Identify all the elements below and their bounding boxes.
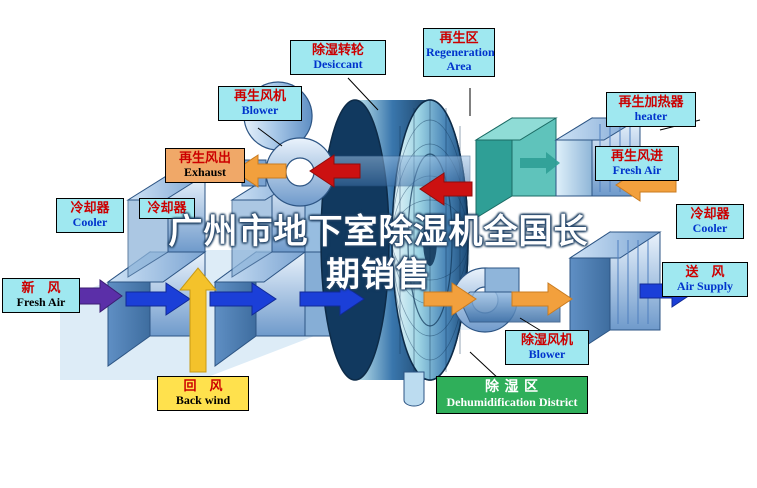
label-regen-heater-en: heater — [609, 110, 693, 124]
label-back-wind: 回 风 Back wind — [157, 376, 249, 411]
label-regeneration-area-cn: 再生区 — [426, 31, 492, 46]
label-regen-exhaust: 再生风出 Exhaust — [165, 148, 245, 183]
label-regen-exhaust-en: Exhaust — [168, 166, 242, 180]
label-regen-fresh-air-en: Fresh Air — [598, 164, 676, 178]
label-regen-fresh-air: 再生风进 Fresh Air — [595, 146, 679, 181]
label-regen-blower: 再生风机 Blower — [218, 86, 302, 121]
label-back-wind-en: Back wind — [160, 394, 246, 408]
label-desiccant-wheel: 除湿转轮 Desiccant — [290, 40, 386, 75]
label-dehum-district: 除 湿 区 Dehumidification District — [436, 376, 588, 414]
diagram-canvas: 除湿转轮 Desiccant 再生区 Regeneration Area 再生风… — [0, 0, 757, 488]
label-dehum-district-en: Dehumidification District — [439, 396, 585, 410]
label-regeneration-area: 再生区 Regeneration Area — [423, 28, 495, 77]
label-regen-heater: 再生加热器 heater — [606, 92, 696, 127]
label-regen-exhaust-cn: 再生风出 — [168, 151, 242, 166]
label-back-wind-cn: 回 风 — [160, 379, 246, 394]
label-desiccant-wheel-cn: 除湿转轮 — [293, 43, 383, 58]
label-dehum-blower-en: Blower — [508, 348, 586, 362]
label-regen-heater-cn: 再生加热器 — [609, 95, 693, 110]
label-desiccant-wheel-en: Desiccant — [293, 58, 383, 72]
label-regen-blower-cn: 再生风机 — [221, 89, 299, 104]
label-dehum-district-cn: 除 湿 区 — [439, 380, 585, 396]
watermark-line-1: 广州市地下室除湿机全国长 — [0, 210, 757, 256]
label-regeneration-area-en: Regeneration Area — [426, 46, 492, 74]
watermark-line-2: 期销售 — [0, 253, 757, 299]
label-regen-fresh-air-cn: 再生风进 — [598, 149, 676, 164]
label-dehum-blower-cn: 除湿风机 — [508, 333, 586, 348]
label-regen-blower-en: Blower — [221, 104, 299, 118]
label-dehum-blower: 除湿风机 Blower — [505, 330, 589, 365]
